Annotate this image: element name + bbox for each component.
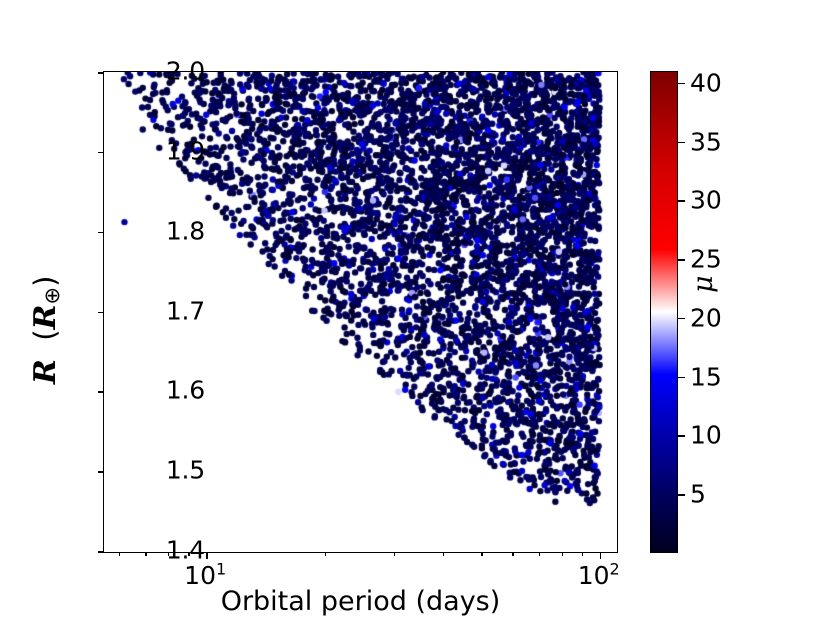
x-axis-major-tick-mark — [600, 552, 602, 559]
colorbar-tick-mark — [678, 377, 685, 379]
x-axis-minor-tick-mark — [562, 552, 563, 556]
colorbar-gradient — [650, 71, 678, 553]
y-axis-tick-label: 1.6 — [85, 376, 205, 405]
y-axis-tick-label: 1.8 — [85, 216, 205, 245]
y-axis-title-paren-open: ( — [28, 329, 62, 350]
earth-symbol-icon: ⊕ — [40, 287, 64, 305]
scatter-plot-figure: 1.41.51.61.71.81.92.0 101102 Orbital per… — [0, 0, 830, 623]
x-axis-minor-tick-mark — [539, 552, 540, 556]
colorbar-tick-mark — [678, 318, 685, 320]
colorbar-tick-mark — [678, 494, 685, 496]
x-axis-minor-tick-mark — [481, 552, 482, 556]
x-axis-title: Orbital period (days) — [103, 586, 618, 617]
y-axis-title: R (R⊕) — [28, 180, 64, 480]
y-axis-tick-label: 1.5 — [85, 456, 205, 485]
colorbar-tick-label: 40 — [690, 68, 722, 97]
y-axis-title-symbol: R — [28, 359, 63, 384]
x-axis-tick-exponent: 2 — [610, 560, 620, 579]
colorbar-tick-mark — [678, 259, 685, 261]
colorbar-tick-label: 5 — [690, 480, 706, 509]
colorbar-tick-label: 25 — [690, 245, 722, 274]
colorbar-tick-label: 15 — [690, 362, 722, 391]
colorbar-tick-mark — [678, 435, 685, 437]
x-axis-minor-tick-mark — [394, 552, 395, 556]
colorbar-tick-mark — [678, 200, 685, 202]
colorbar-tick-label: 20 — [690, 303, 722, 332]
colorbar: 510152025303540 — [650, 71, 678, 553]
colorbar-tick-label: 30 — [690, 186, 722, 215]
colorbar-tick-label: 10 — [690, 421, 722, 450]
x-axis-minor-tick-mark — [512, 552, 513, 556]
y-axis-tick-label: 1.9 — [85, 136, 205, 165]
y-axis-tick-label: 2.0 — [85, 57, 205, 86]
x-axis-tick-exponent: 1 — [216, 560, 226, 579]
x-axis-minor-tick-mark — [443, 552, 444, 556]
x-axis-minor-tick-mark — [325, 552, 326, 556]
colorbar-tick-mark — [678, 142, 685, 144]
colorbar-tick-mark — [678, 83, 685, 85]
colorbar-tick-label: 35 — [690, 127, 722, 156]
y-axis-title-paren-close: ) — [28, 276, 62, 287]
colorbar-title: μ — [688, 275, 719, 293]
y-axis-title-unit-symbol: R — [28, 305, 63, 330]
x-axis-minor-tick-mark — [582, 552, 583, 556]
x-axis-major-tick-mark — [206, 552, 208, 559]
y-axis-tick-label: 1.7 — [85, 296, 205, 325]
